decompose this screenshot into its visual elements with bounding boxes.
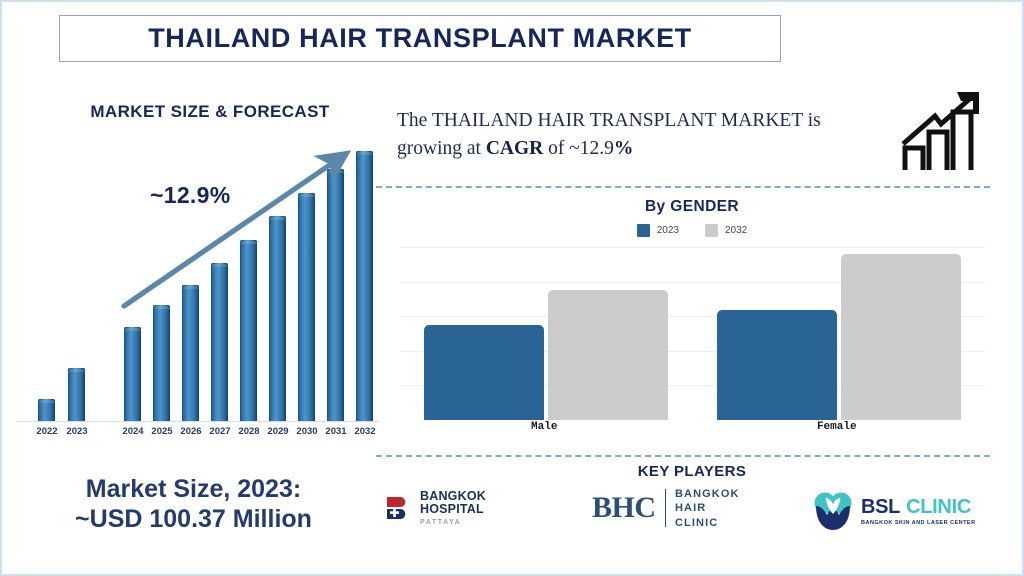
growth-statement: The THAILAND HAIR TRANSPLANT MARKET is g… <box>397 107 867 162</box>
market-size-amount: ~USD 100.37 Million <box>16 505 371 535</box>
market-size-bar <box>68 368 85 422</box>
legend-item[interactable]: 2023 <box>637 224 679 237</box>
market-size-year-label: 2023 <box>62 426 92 437</box>
gender-bar <box>548 290 668 420</box>
bsl-tagline: BANGKOK SKIN AND LASER CENTER <box>861 520 976 526</box>
legend-label: 2032 <box>725 225 747 236</box>
by-gender-title: By GENDER <box>397 198 987 216</box>
page-title: THAILAND HAIR TRANSPLANT MARKET <box>148 23 692 54</box>
by-gender-chart <box>400 247 985 420</box>
gridline <box>400 247 985 248</box>
bangkok-hospital-line2: HOSPITAL <box>420 503 486 516</box>
market-size-bar-cap <box>38 399 55 403</box>
market-size-bar-cap <box>68 368 85 372</box>
bsl-wordmark: BSLCLINIC <box>861 496 976 519</box>
market-size-bar <box>38 399 55 422</box>
cagr-callout-left: ~12.9% <box>150 182 230 209</box>
gender-bar <box>424 325 544 420</box>
bsl-clinic-logo <box>812 490 854 532</box>
bhc-line3: CLINIC <box>675 516 740 530</box>
gender-bar <box>717 310 837 420</box>
key-players-logos: BANGKOK HOSPITAL PATTAYA BHC BANGKOK HAI… <box>380 484 1005 542</box>
bhc-logo: BHC <box>592 493 656 523</box>
gender-category-label: Male <box>514 421 574 433</box>
key-players-title: KEY PLAYERS <box>397 463 987 480</box>
market-size-year-label: 2030 <box>292 426 322 437</box>
bhc-divider <box>665 489 667 527</box>
key-player-logo-bangkok-hospital[interactable]: BANGKOK HOSPITAL PATTAYA <box>384 490 486 526</box>
bhc-line1: BANGKOK <box>675 487 740 501</box>
market-size-bar <box>124 327 141 422</box>
growth-statement-mid: of ~12.9 <box>543 138 614 159</box>
market-size-year-label: 2024 <box>118 426 148 437</box>
bangkok-hospital-sub: PATTAYA <box>420 519 486 526</box>
legend-swatch <box>637 224 650 237</box>
market-size-year-label: 2031 <box>321 426 351 437</box>
market-size-bar <box>153 305 170 422</box>
market-size-axis-line <box>16 421 378 422</box>
page-title-box: THAILAND HAIR TRANSPLANT MARKET <box>59 15 781 62</box>
legend-swatch <box>705 224 718 237</box>
market-size-label: Market Size, 2023: <box>16 475 371 505</box>
divider-bottom <box>376 455 990 457</box>
growth-bar-chart-icon <box>899 88 991 176</box>
legend-label: 2023 <box>657 225 679 236</box>
market-size-year-label: 2032 <box>350 426 380 437</box>
bsl-word-clinic: CLINIC <box>906 496 971 518</box>
market-size-year-label: 2027 <box>205 426 235 437</box>
growth-statement-percent: % <box>614 138 634 159</box>
market-size-2023-value: Market Size, 2023: ~USD 100.37 Million <box>16 475 371 534</box>
growth-statement-cagr: CAGR <box>486 138 543 159</box>
bangkok-hospital-line1: BANGKOK <box>420 490 486 503</box>
bhc-line2: HAIR <box>675 501 740 515</box>
legend-item[interactable]: 2032 <box>705 224 747 237</box>
bangkok-hospital-logo <box>384 493 414 523</box>
market-size-year-label: 2026 <box>176 426 206 437</box>
divider-top <box>376 186 990 188</box>
up-trend-arrow-icon <box>112 142 362 322</box>
infographic-page: THAILAND HAIR TRANSPLANT MARKET MARKET S… <box>0 0 1024 576</box>
market-size-year-label: 2022 <box>32 426 62 437</box>
market-size-forecast-heading: MARKET SIZE & FORECAST <box>65 102 355 122</box>
market-size-year-label: 2029 <box>263 426 293 437</box>
market-size-year-label: 2025 <box>147 426 177 437</box>
bsl-word-bsl: BSL <box>861 496 900 518</box>
market-size-bar-cap <box>124 327 141 331</box>
key-player-logo-bangkok-hair-clinic[interactable]: BHC BANGKOK HAIR CLINIC <box>592 487 740 530</box>
market-size-year-label: 2028 <box>234 426 264 437</box>
key-player-logo-bsl-clinic[interactable]: BSLCLINIC BANGKOK SKIN AND LASER CENTER <box>812 490 976 532</box>
gender-bar <box>841 254 961 420</box>
gender-category-label: Female <box>807 421 867 433</box>
by-gender-legend: 20232032 <box>397 224 987 237</box>
